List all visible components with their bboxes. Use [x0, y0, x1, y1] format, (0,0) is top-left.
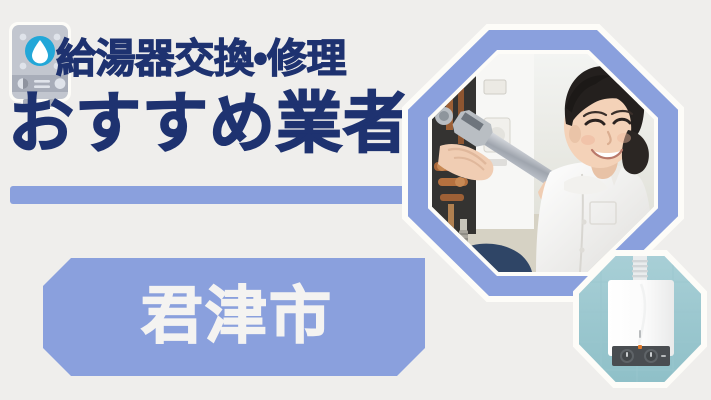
- city-badge-label: 君津市: [135, 286, 333, 348]
- headline-underline-bar: [10, 186, 406, 204]
- headline-block: 給湯器交換•修理 おすすめ業者: [0, 36, 430, 196]
- headline-line-2: おすすめ業者: [8, 84, 410, 162]
- headline-line-1: 給湯器交換•修理: [56, 36, 346, 82]
- city-badge: 君津市: [43, 258, 425, 376]
- banner-root: 給湯器交換•修理 おすすめ業者 君津市: [0, 0, 711, 400]
